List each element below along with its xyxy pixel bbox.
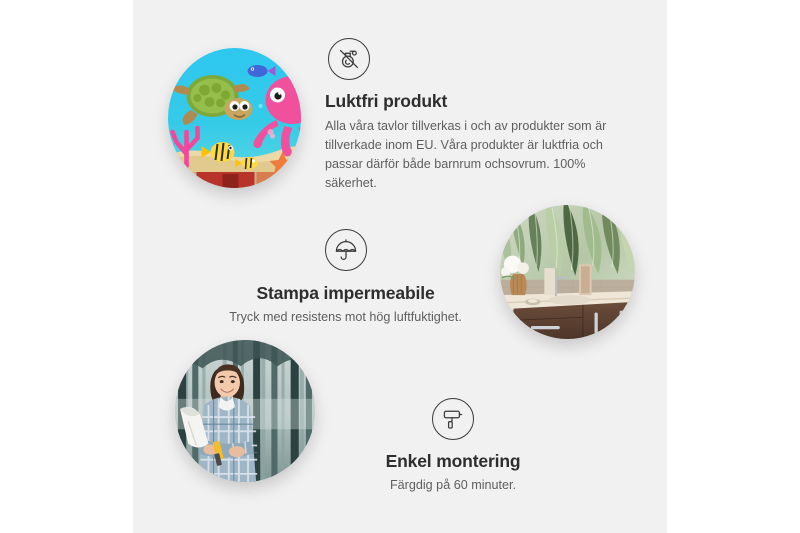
- umbrella-icon: [325, 229, 367, 271]
- paint-roller-icon: [432, 398, 474, 440]
- feature-body: Alla våra tavlor tillverkas i och av pro…: [325, 117, 617, 194]
- feature-title: Enkel montering: [323, 451, 583, 473]
- feature-easy-mounting: Enkel montering Färgdig på 60 minuter.: [323, 398, 583, 495]
- feature-body: Färgdig på 60 minuter.: [323, 476, 583, 495]
- feature-title: Stampa impermeabile: [193, 283, 498, 305]
- feature-waterproof: Stampa impermeabile Tryck med resistens …: [193, 229, 498, 327]
- infographic-panel: Luktfri produkt Alla våra tavlor tillver…: [133, 0, 667, 533]
- no-fragrance-spray-icon: [328, 38, 370, 80]
- photo-bathroom: [500, 205, 635, 339]
- photo-underwater-scene: [168, 48, 301, 188]
- feature-body: Tryck med resistens mot hög luftfuktighe…: [193, 308, 498, 327]
- photo-installer: [175, 340, 315, 482]
- feature-title: Luktfri produkt: [325, 91, 630, 113]
- feature-odorless: Luktfri produkt Alla våra tavlor tillver…: [325, 38, 630, 193]
